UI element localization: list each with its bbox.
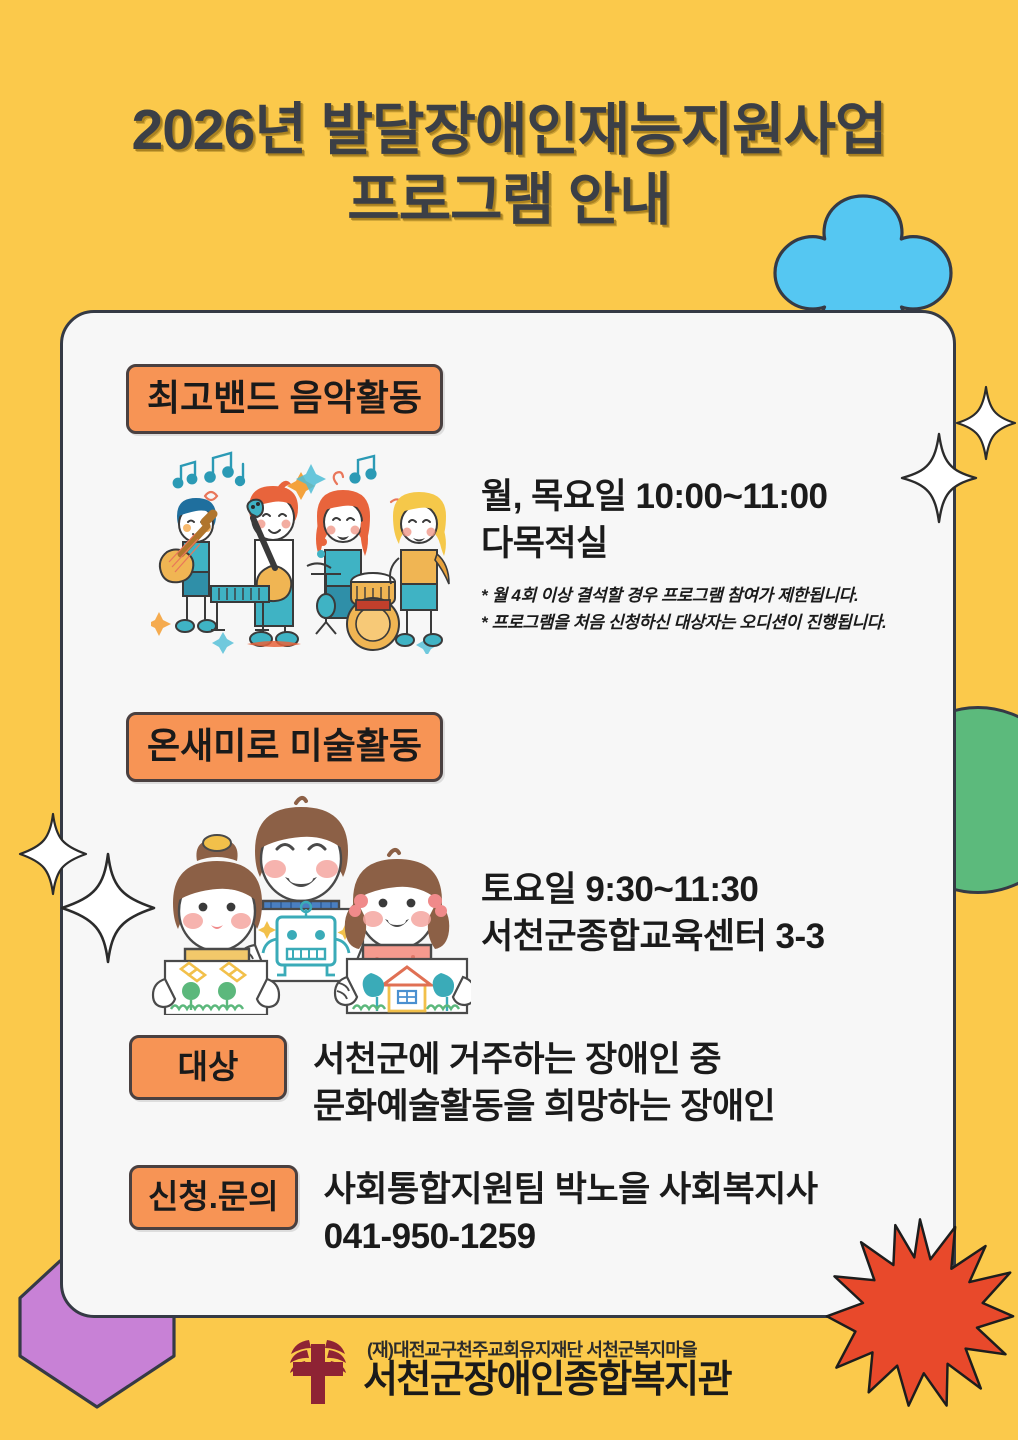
detail-row-target: 대상 서천군에 거주하는 장애인 중 문화예술활동을 희망하는 장애인 bbox=[129, 1035, 775, 1130]
band-schedule: 월, 목요일 10:00~11:00 bbox=[481, 473, 951, 520]
art-info: 토요일 9:30~11:30 서천군종합교육센터 3-3 bbox=[481, 866, 951, 961]
target-line-2: 문화예술활동을 희망하는 장애인 bbox=[313, 1084, 775, 1131]
detail-row-contact: 신청.문의 사회통합지원팀 박노을 사회복지사 041-950-1259 bbox=[129, 1165, 818, 1260]
band-info: 월, 목요일 10:00~11:00 다목적실 * 월 4회 이상 결석할 경우… bbox=[481, 473, 951, 636]
starburst-decoration bbox=[825, 1215, 1015, 1410]
footer-organization-name: 서천군장애인종합복지관 bbox=[363, 1360, 731, 1402]
band-note-2: * 프로그램을 처음 신청하신 대상자는 오디션이 진행됩니다. bbox=[481, 609, 951, 636]
poster-title: 2026년 발달장애인재능지원사업 프로그램 안내 bbox=[0, 96, 1018, 235]
art-schedule: 토요일 9:30~11:30 bbox=[481, 866, 951, 913]
organization-logo-icon bbox=[287, 1334, 349, 1408]
content-card: 최고밴드 음악활동 bbox=[60, 310, 956, 1318]
footer-subtitle: (재)대전교구천주교회유지재단 서천군복지마을 bbox=[363, 1340, 731, 1361]
contact-phone: 041-950-1259 bbox=[324, 1214, 818, 1261]
detail-badge-contact: 신청.문의 bbox=[129, 1165, 298, 1230]
detail-badge-target: 대상 bbox=[129, 1035, 287, 1100]
contact-line-1: 사회통합지원팀 박노을 사회복지사 bbox=[324, 1167, 818, 1214]
program-badge-art: 온새미로 미술활동 bbox=[126, 712, 443, 782]
band-illustration bbox=[151, 446, 461, 654]
sparkle-icon bbox=[60, 852, 156, 964]
band-notes: * 월 4회 이상 결석할 경우 프로그램 참여가 제한됩니다. * 프로그램을… bbox=[481, 582, 951, 636]
poster-canvas: 2026년 발달장애인재능지원사업 프로그램 안내 최고밴드 음악활동 bbox=[0, 0, 1018, 1440]
sparkle-icon bbox=[900, 432, 978, 524]
art-location: 서천군종합교육센터 3-3 bbox=[481, 913, 951, 960]
target-line-1: 서천군에 거주하는 장애인 중 bbox=[313, 1037, 775, 1084]
title-line-1: 2026년 발달장애인재능지원사업 bbox=[0, 96, 1018, 166]
title-line-2: 프로그램 안내 bbox=[0, 166, 1018, 236]
detail-text-contact: 사회통합지원팀 박노을 사회복지사 041-950-1259 bbox=[324, 1165, 818, 1260]
band-location: 다목적실 bbox=[481, 520, 951, 567]
footer-text: (재)대전교구천주교회유지재단 서천군복지마을 서천군장애인종합복지관 bbox=[363, 1340, 731, 1402]
art-illustration bbox=[151, 793, 471, 1015]
band-note-1: * 월 4회 이상 결석할 경우 프로그램 참여가 제한됩니다. bbox=[481, 582, 951, 609]
program-badge-band: 최고밴드 음악활동 bbox=[126, 364, 443, 434]
detail-text-target: 서천군에 거주하는 장애인 중 문화예술활동을 희망하는 장애인 bbox=[313, 1035, 775, 1130]
